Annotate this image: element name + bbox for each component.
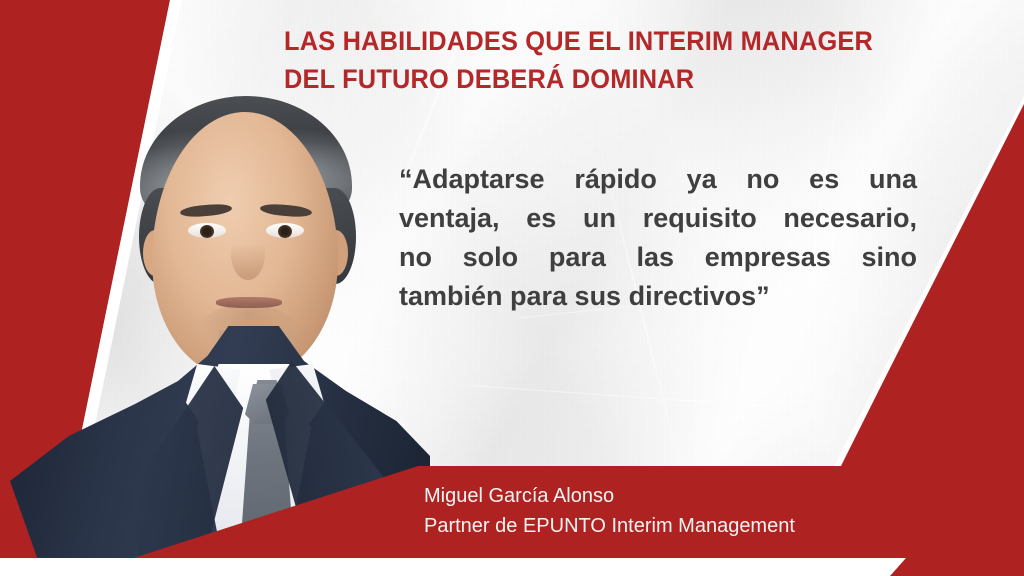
- speaker-role: Partner de EPUNTO Interim Management: [424, 511, 795, 541]
- eye-right: [266, 223, 304, 238]
- bottom-white-strip: [0, 556, 1024, 576]
- iris-left: [200, 225, 214, 238]
- pull-quote: “Adaptarse rápido ya no es una ventaja, …: [399, 160, 917, 316]
- speaker-name: Miguel García Alonso: [424, 481, 795, 511]
- eye-left: [188, 223, 226, 238]
- speaker-attribution: Miguel García Alonso Partner de EPUNTO I…: [424, 481, 795, 541]
- quote-line-2: ventaja, es un requisito necesario,: [399, 199, 917, 238]
- quote-line-1: “Adaptarse rápido ya no es una: [399, 160, 917, 199]
- iris-right: [278, 225, 292, 238]
- quote-line-4: también para sus directivos”: [399, 277, 917, 316]
- nose: [231, 228, 265, 280]
- slide-canvas: LAS HABILIDADES QUE EL INTERIM MANAGER D…: [0, 0, 1024, 576]
- quote-line-3: no solo para las empresas sino: [399, 238, 917, 277]
